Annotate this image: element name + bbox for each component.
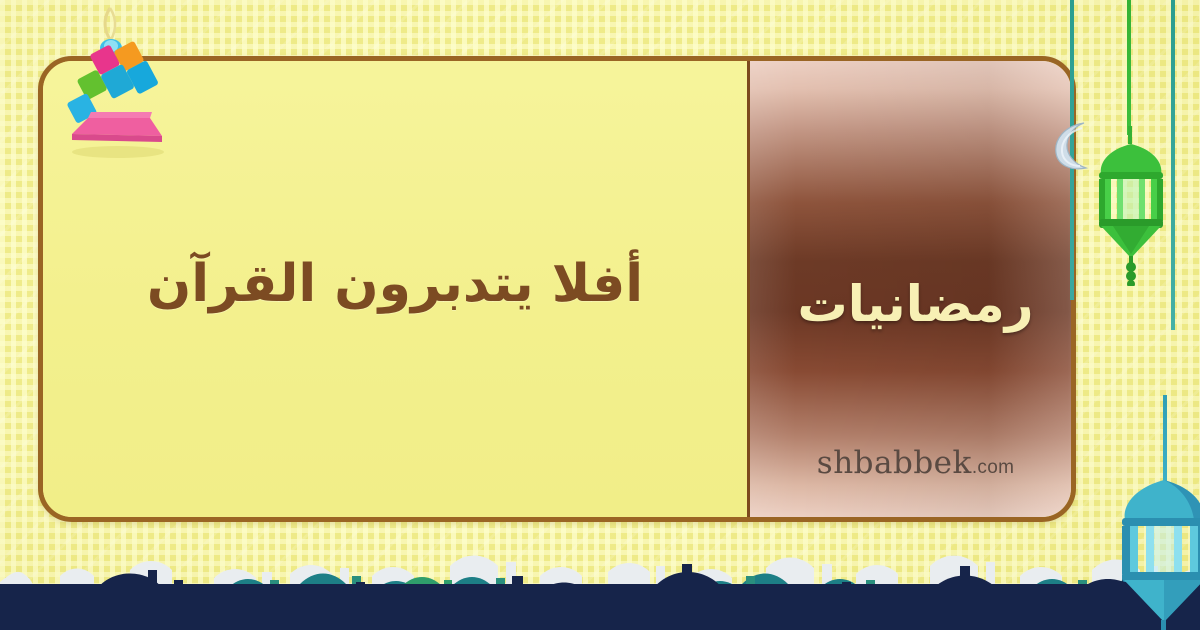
- hanging-string-teal-right: [1171, 0, 1175, 330]
- ketupat-diamond-ornament: [58, 6, 178, 166]
- hanging-string-green: [1127, 0, 1131, 135]
- lantern-blue: [1112, 480, 1200, 630]
- content-card: أفلا يتدبرون القرآن رمضانيات shbabbek.co…: [38, 56, 1076, 522]
- ketupat-icon: [58, 6, 178, 166]
- category-label: رمضانيات: [798, 275, 1034, 333]
- category-panel: رمضانيات shbabbek.com: [747, 61, 1076, 517]
- crescent-moon-silver: [1052, 120, 1092, 172]
- lantern-icon: [1093, 126, 1169, 286]
- watermark-tld: .com: [972, 457, 1014, 478]
- skyline-ground: [0, 584, 1200, 630]
- crescent-moon-icon: [1052, 120, 1092, 172]
- site-watermark: shbabbek.com: [750, 445, 1076, 481]
- lantern-icon: [1112, 480, 1200, 630]
- watermark-name: shbabbek: [817, 445, 972, 481]
- ramadan-card-canvas: أفلا يتدبرون القرآن رمضانيات shbabbek.co…: [0, 0, 1200, 630]
- page-title: أفلا يتدبرون القرآن: [121, 252, 669, 327]
- lantern-green: [1093, 126, 1169, 286]
